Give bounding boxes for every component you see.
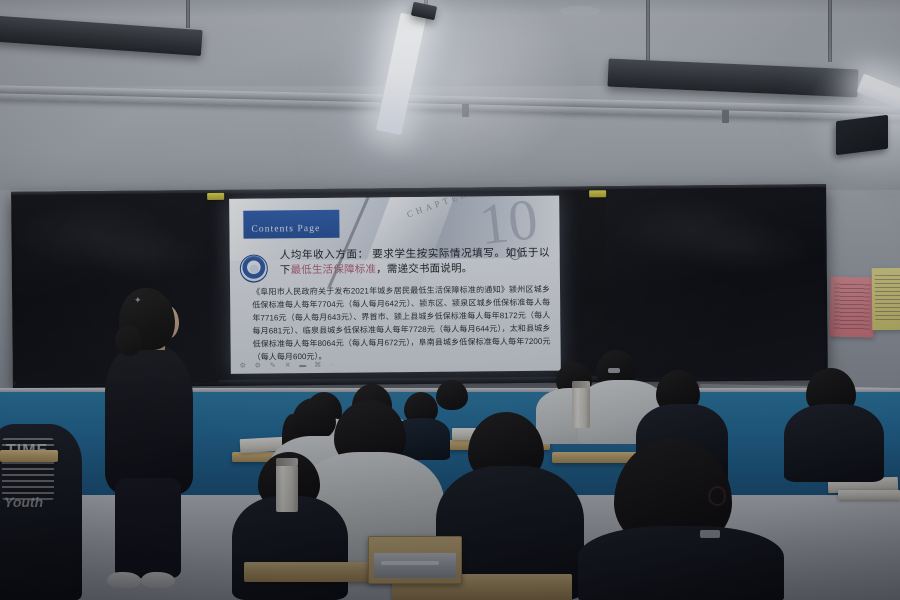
contents-page-badge: Contents Page [243, 210, 339, 239]
hair-clip-icon: ✦ [134, 296, 143, 305]
teacher-shoe-right [141, 572, 175, 588]
slide-detail-paragraph: 《阜阳市人民政府关于发布2021年城乡居民最低生活保障标准的通知》颍州区城乡低保… [252, 284, 551, 365]
thermos-bottle [276, 464, 298, 512]
chalkboard-panel-right [605, 187, 825, 379]
student-torso [784, 404, 884, 482]
wall-speaker [836, 115, 888, 155]
book-stack [838, 490, 900, 500]
organizer-divider [381, 561, 439, 565]
student-head [436, 380, 468, 410]
poster-text-lines [874, 275, 900, 322]
classroom-photo: CHAPTER 10 Contents Page 人均年收入方面： 要求学生按实… [0, 0, 900, 600]
settings-icon[interactable]: ⚙ [239, 363, 247, 371]
ceiling-vent [560, 6, 600, 16]
pen-icon[interactable]: ✎ [269, 362, 277, 370]
board-corner-marker [207, 193, 224, 200]
teacher: ✦ [95, 288, 199, 600]
thermos-bottle [572, 386, 590, 428]
poster-text-lines [833, 284, 871, 330]
more-icon[interactable]: · [329, 362, 337, 370]
slide-lead-paragraph: 人均年收入方面： 要求学生按实际情况填写。如低于以下最低生活保障标准，需递交书面… [280, 246, 550, 279]
student-desk [0, 450, 58, 462]
board-corner-marker [589, 190, 606, 197]
lead-text-after-highlight: ，需递交书面说明。 [376, 263, 472, 276]
desk-organizer-tray [368, 536, 462, 584]
tshirt-word-bottom: Youth [4, 494, 43, 510]
school-emblem-icon [240, 254, 268, 282]
ceiling-shadow [0, 0, 900, 16]
teacher-shoe-left [107, 572, 141, 588]
thermos-cap [572, 381, 590, 388]
contents-page-label: Contents Page [243, 224, 320, 239]
student-head [292, 398, 336, 440]
pink-hair-accessory [710, 488, 724, 504]
student-torso [578, 526, 784, 600]
light-suspension-rod [828, 0, 832, 62]
pink-notice-poster [829, 277, 874, 338]
keyboard-icon[interactable]: ▬ [299, 362, 307, 370]
light-suspension-rod [186, 0, 190, 28]
light-suspension-rod [646, 0, 650, 68]
lead-text-highlight: 最低生活保障标准 [290, 264, 376, 277]
brightness-icon[interactable]: ⚙ [254, 363, 262, 371]
yellow-notice-poster [872, 268, 900, 330]
conduit-clip [462, 104, 469, 117]
slide-toolbar[interactable]: ⚙ ⚙ ✎ ✕ ▬ ⌘ · [239, 362, 337, 371]
organizer-compartment [374, 553, 456, 578]
teacher-torso [105, 344, 193, 494]
close-icon[interactable]: ✕ [284, 362, 292, 370]
teacher-legs [115, 478, 181, 578]
teacher-hair-bun [115, 326, 141, 356]
thermos-cap [276, 458, 298, 466]
presentation-slide[interactable]: CHAPTER 10 Contents Page 人均年收入方面： 要求学生按实… [229, 196, 561, 374]
hair-tie [608, 368, 620, 373]
hair-tie [700, 530, 720, 538]
conduit-clip [722, 110, 729, 123]
cursor-pointer-ring [510, 249, 521, 260]
grid-icon[interactable]: ⌘ [314, 362, 322, 370]
